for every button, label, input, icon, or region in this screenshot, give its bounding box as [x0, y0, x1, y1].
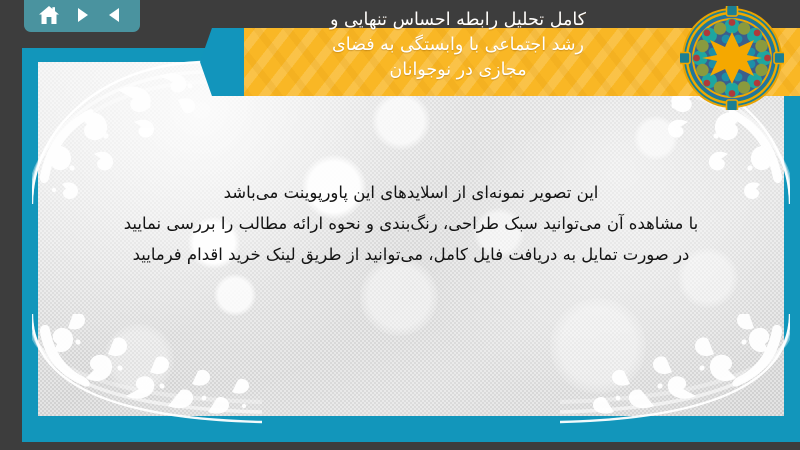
body-line: در صورت تمایل به دریافت فایل کامل، می‌تو… [62, 242, 760, 268]
forward-triangle-icon [72, 5, 92, 25]
navigation-bar [24, 0, 140, 32]
slide-body-text: این تصویر نمونه‌ای از اسلایدهای این پاور… [62, 180, 760, 273]
back-button[interactable] [102, 3, 128, 27]
page-title: کامل تحلیل رابطه احساس تنهایی و رشد اجتم… [200, 8, 716, 83]
persian-medallion-icon [680, 6, 784, 110]
home-button[interactable] [36, 3, 62, 27]
back-triangle-icon [105, 5, 125, 25]
forward-button[interactable] [69, 3, 95, 27]
slide-viewer: این تصویر نمونه‌ای از اسلایدهای این پاور… [0, 0, 800, 450]
home-icon [38, 5, 60, 26]
body-line: با مشاهده آن می‌توانید سبک طراحی، رنگ‌بن… [62, 211, 760, 237]
body-line: این تصویر نمونه‌ای از اسلایدهای این پاور… [62, 180, 760, 206]
